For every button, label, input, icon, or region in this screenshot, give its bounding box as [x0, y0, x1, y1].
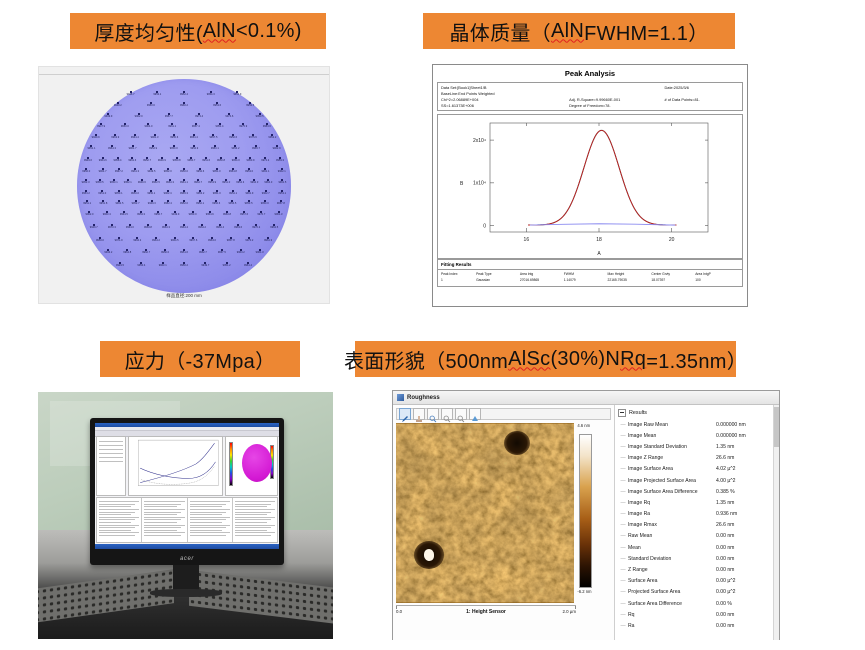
- wafer-point-value: 9961.1: [168, 126, 176, 129]
- screen-table-row: [235, 512, 271, 513]
- svg-text:2x10⁴: 2x10⁴: [473, 138, 486, 144]
- screen-table-row: [99, 532, 139, 533]
- svg-text:B: B: [460, 181, 464, 187]
- wafer-point-value: 9952.9: [149, 148, 157, 151]
- svg-text:0: 0: [483, 224, 486, 230]
- screen-table-row: [235, 514, 267, 515]
- screen-table-row: [190, 530, 222, 531]
- screen-panel-row: [99, 441, 123, 442]
- monitor-stand-neck: [173, 565, 199, 591]
- wafer-point-value: 9964.7: [99, 171, 107, 174]
- screen-table-row: [235, 522, 267, 523]
- wafer-point-value: 9954.6: [206, 214, 214, 217]
- wafer-point-value: 9952.0: [180, 203, 188, 206]
- wafer-point-value: 9964.8: [123, 252, 131, 255]
- wafer-point-value: 9953.9: [247, 160, 255, 163]
- afm-scale-gradient: [579, 434, 592, 588]
- wafer-point-value: 9950.0: [161, 252, 169, 255]
- pencil-icon[interactable]: [399, 408, 411, 420]
- wafer-point-value: 9961.3: [264, 240, 272, 243]
- screen-table-row: [99, 527, 135, 528]
- fit-column-header: FWHM: [564, 272, 608, 276]
- results-row[interactable]: —Image Surface Area Difference0.385 %: [618, 486, 776, 497]
- wafer-point-value: 9962.7: [262, 193, 270, 196]
- result-name: Rq: [628, 612, 716, 618]
- wafer-point-value: 9950.0: [189, 214, 197, 217]
- wafer-point-value: 9949.6: [138, 182, 146, 185]
- result-name: Image Standard Deviation: [628, 444, 716, 450]
- wafer-point-value: 9952.4: [180, 94, 188, 97]
- results-tree-root[interactable]: Results: [618, 409, 776, 417]
- wafer-point-value: 9949.6: [84, 160, 92, 163]
- wafer-point-value: 9964.3: [250, 182, 258, 185]
- afm-window-titlebar[interactable]: Roughness: [393, 391, 779, 405]
- svg-text:A: A: [597, 251, 601, 257]
- wafer-point-value: 9965.7: [252, 148, 260, 151]
- wafer-point-value: 9962.4: [164, 193, 172, 196]
- wafer-point-value: 9962.5: [115, 203, 123, 206]
- fitting-results-column-headers: Peak IndexPeak TypeArea IntgFWHMMax Heig…: [441, 272, 739, 276]
- wafer-point-value: 9949.7: [90, 227, 98, 230]
- afm-x-min-label: 0.0: [396, 609, 402, 614]
- screen-table-row: [144, 525, 184, 526]
- collapse-toggle-icon[interactable]: [618, 409, 626, 417]
- screen-table-row: [99, 504, 135, 505]
- result-value: 0.00 nm: [716, 623, 776, 629]
- screen-table-row: [235, 532, 275, 533]
- wafer-point-value: 9964.4: [180, 227, 188, 230]
- fit-value-cell: 100: [695, 278, 739, 282]
- wafer-point-value: 9951.1: [83, 203, 91, 206]
- afm-x-axis: 0.0 1: Height Sensor 2.0 µm: [396, 605, 576, 622]
- fitting-results-header: Fitting Results: [437, 259, 743, 269]
- wafer-point-value: 9961.6: [128, 160, 136, 163]
- result-value: 0.00 nm: [716, 612, 776, 618]
- wafer-point-value: 9949.9: [104, 116, 112, 119]
- wafer-point-value: 9951.1: [87, 148, 95, 151]
- results-row[interactable]: —Surface Area Difference0.00 %: [618, 598, 776, 609]
- wafer-point-value: 9953.1: [153, 94, 161, 97]
- wafer-point-value: 9972.2: [261, 160, 269, 163]
- fit-value-cell: Gaussian: [476, 278, 520, 282]
- screen-data-tables: [96, 497, 278, 543]
- results-row[interactable]: —Image Z Range26.6 nm: [618, 453, 776, 464]
- wafer-point-value: 9950.7: [154, 214, 162, 217]
- wafer-point-value: 9950.0: [180, 171, 188, 174]
- screen-left-panel: [96, 436, 126, 496]
- svg-text:20: 20: [669, 237, 675, 243]
- screen-table-2: [142, 498, 187, 542]
- fit-column-header: Max Height: [608, 272, 652, 276]
- wafer-point-value: 9949.5: [116, 265, 124, 268]
- wafer-point-value: 9961.5: [278, 182, 286, 185]
- wafer-point-value: 9961.3: [256, 252, 264, 255]
- tree-branch-icon: —: [618, 500, 628, 506]
- wafer-point-value: 9953.3: [137, 214, 145, 217]
- afm-scale-max-label: 4.6 nm: [577, 423, 590, 428]
- result-name: Image Rq: [628, 500, 716, 506]
- afm-height-scale: 4.6 nm -6.2 nm: [577, 423, 611, 603]
- wafer-point-value: 9964.5: [120, 214, 128, 217]
- screen-table-row: [144, 509, 184, 510]
- wafer-point-value: 9946.7: [127, 94, 135, 97]
- export-icon[interactable]: [469, 408, 481, 420]
- monitor-stand-base: [150, 589, 222, 597]
- result-value: 0.00 %: [716, 601, 776, 607]
- meta-degree-of-freedom: Degree of Freedom=78.: [569, 103, 664, 109]
- result-name: Image Mean: [628, 433, 716, 439]
- wafer-point-value: 9951.0: [213, 171, 221, 174]
- wafer-point-value: 9953.5: [246, 105, 254, 108]
- wafer-point-value: 9961.4: [244, 265, 252, 268]
- results-row[interactable]: —Ra0.00 nm: [618, 620, 776, 631]
- wafer-point-value: 9950.6: [147, 105, 155, 108]
- fit-column-header: Center Grvty: [651, 272, 695, 276]
- result-name: Z Range: [628, 567, 716, 573]
- wafer-point-value: 9964.3: [108, 148, 116, 151]
- afm-grain-texture: [396, 423, 574, 603]
- wafer-point-value: 9950.1: [147, 193, 155, 196]
- zoom-out-icon[interactable]: [441, 408, 453, 420]
- wafer-point-value: 9967.6: [189, 240, 197, 243]
- result-value: 0.00 µ^2: [716, 589, 776, 595]
- wafer-point-value: 9957.6: [240, 214, 248, 217]
- title-stress-text: 应力（-37Mpa）: [125, 345, 276, 374]
- results-scrollbar-thumb[interactable]: [774, 407, 779, 447]
- results-row[interactable]: —Image Raw Mean0.000000 nm: [618, 419, 776, 430]
- screen-table-row: [190, 525, 230, 526]
- screen-table-row: [144, 514, 176, 515]
- result-value: 0.385 %: [716, 489, 776, 495]
- screen-panel-row: [99, 457, 123, 458]
- screen-table-row: [190, 519, 226, 520]
- title-surface-spellcheck-term-1: AlSc: [508, 348, 550, 371]
- wafer-point-value: 9949.5: [147, 171, 155, 174]
- wafer-point-value: 9951.0: [98, 193, 106, 196]
- wafer-point-value: 9952.1: [124, 182, 132, 185]
- screen-panel-row: [99, 449, 123, 450]
- result-value: 4.00 µ^2: [716, 478, 776, 484]
- wafer-point-value: 9954.5: [228, 203, 236, 206]
- result-value: 0.00 µ^2: [716, 578, 776, 584]
- wafer-point-value: 9962.0: [135, 116, 143, 119]
- afm-height-image[interactable]: [396, 423, 574, 603]
- wafer-point-value: 9950.6: [212, 203, 220, 206]
- results-row[interactable]: —Z Range0.00 nm: [618, 564, 776, 575]
- screen-table-row: [99, 514, 131, 515]
- results-row[interactable]: —Image Surface Area4.02 µ^2: [618, 464, 776, 475]
- wafer-point-value: 9950.1: [211, 148, 219, 151]
- tree-branch-icon: —: [618, 545, 628, 551]
- wafer-point-value: 9952.4: [164, 203, 172, 206]
- fitting-results-table: Peak IndexPeak TypeArea IntgFWHMMax Heig…: [437, 269, 743, 287]
- tree-branch-icon: —: [618, 422, 628, 428]
- wafer-point-value: 9964.5: [171, 240, 179, 243]
- results-row[interactable]: —Raw Mean0.00 nm: [618, 531, 776, 542]
- wafer-point-value: 9963.4: [103, 214, 111, 217]
- title-surface-spellcheck-term-2: Rq: [620, 348, 646, 371]
- results-row[interactable]: —Image Rmax26.6 nm: [618, 520, 776, 531]
- afm-pit-1: [504, 431, 530, 455]
- result-value: 0.00 nm: [716, 533, 776, 539]
- wafer-point-value: 9964.3: [264, 182, 272, 185]
- monitor-screen: [95, 423, 279, 549]
- screen-table-row: [99, 501, 139, 502]
- result-value: 0.00 nm: [716, 556, 776, 562]
- tree-branch-icon: —: [618, 612, 628, 618]
- wafer-point-value: 9964.2: [133, 240, 141, 243]
- title-thickness-uniformity: 厚度均匀性(AlN<0.1%): [70, 13, 326, 49]
- result-name: Image Z Range: [628, 455, 716, 461]
- tree-branch-icon: —: [618, 533, 628, 539]
- peak-analysis-plot: 161820A01x10⁴2x10⁴B: [437, 114, 743, 259]
- wafer-point-value: 9949.9: [92, 137, 100, 140]
- wafer-point-value: 9958.4: [114, 160, 122, 163]
- results-row[interactable]: —Rq0.00 nm: [618, 609, 776, 620]
- result-name: Surface Area Difference: [628, 601, 716, 607]
- screen-table-row: [144, 530, 176, 531]
- screen-table-row: [190, 522, 222, 523]
- tree-branch-icon: —: [618, 489, 628, 495]
- wafer-point-value: 9953.5: [96, 182, 104, 185]
- screen-table-row: [235, 509, 275, 510]
- results-scrollbar[interactable]: [773, 405, 779, 640]
- result-value: 1.35 nm: [716, 500, 776, 506]
- wafer-point-value: 9959.3: [276, 160, 284, 163]
- screen-table-row: [99, 530, 131, 531]
- wafer-point-value: 9957.7: [165, 116, 173, 119]
- zoom-in-icon[interactable]: [427, 408, 439, 420]
- tree-branch-icon: —: [618, 623, 628, 629]
- wafer-point-value: 9974.6: [225, 116, 233, 119]
- title-stress: 应力（-37Mpa）: [100, 341, 300, 377]
- tree-branch-icon: —: [618, 511, 628, 517]
- wafer-point-value: 9952.7: [132, 203, 140, 206]
- tree-branch-icon: —: [618, 444, 628, 450]
- wafer-point-value: 9953.1: [278, 193, 286, 196]
- screen-table-row: [144, 532, 184, 533]
- screen-workspace: [95, 435, 279, 544]
- screen-table-row: [190, 504, 226, 505]
- screen-table-row: [144, 506, 176, 507]
- screen-table-row: [99, 506, 131, 507]
- figure-top-rule: [39, 74, 329, 75]
- fit-value-cell: 27016.69865: [520, 278, 564, 282]
- afm-window-body: 4.6 nm -6.2 nm 0.0 1: Height Sensor 2.0 …: [393, 405, 779, 640]
- wafer-stress-map-disc: [242, 444, 272, 482]
- wafer-point-value: 9952.7: [143, 160, 151, 163]
- screen-table-row: [235, 527, 271, 528]
- wafer-point-value: 9964.3: [166, 182, 174, 185]
- result-value: 0.00 nm: [716, 567, 776, 573]
- wafer-point-value: 9947.9: [97, 126, 105, 129]
- wafer-point-value: 9970.7: [257, 214, 265, 217]
- roughness-app-icon: [397, 394, 404, 401]
- wafer-point-value: 9951.6: [180, 252, 188, 255]
- screen-table-row: [190, 509, 230, 510]
- wafer-point-value: 9951.6: [202, 160, 210, 163]
- wafer-point-value: 9953.2: [196, 193, 204, 196]
- wafer-point-value: 9957.5: [209, 137, 217, 140]
- wafer-point-value: 9955.6: [170, 137, 178, 140]
- tree-branch-icon: —: [618, 589, 628, 595]
- color-scale-left: [229, 442, 233, 486]
- wafer-point-value: 9949.9: [171, 214, 179, 217]
- title-surface-morphology: 表面形貌（500nm AlSc(30%)N Rq=1.35nm）: [355, 341, 736, 377]
- wafer-point-value: 9950.0: [82, 171, 90, 174]
- results-label: Results: [629, 410, 647, 416]
- wafer-point-value: 9962.5: [270, 227, 278, 230]
- screen-table-row: [99, 509, 139, 510]
- result-value: 1.35 nm: [716, 444, 776, 450]
- wafer-point-value: 9967.2: [115, 171, 123, 174]
- wafer-point-value: 9953.6: [263, 126, 271, 129]
- screen-table-row: [144, 501, 184, 502]
- peak-analysis-metadata: Data Set:[Book1]Sheet1!B Date:2025/3/6 B…: [437, 82, 743, 111]
- fit-value-cell: 1: [441, 278, 476, 282]
- wafer-point-value: 9961.7: [129, 148, 137, 151]
- wafer-point-value: 9952.0: [164, 171, 172, 174]
- screen-table-row: [235, 504, 271, 505]
- results-row[interactable]: —Image Rq1.35 nm: [618, 497, 776, 508]
- peak-analysis-title: Peak Analysis: [433, 69, 747, 78]
- wafer-point-value: 9957.4: [192, 126, 200, 129]
- result-value: 0.000000 nm: [716, 433, 776, 439]
- wafer-point-value: 9954.0: [232, 160, 240, 163]
- afm-roughness-window: Roughness: [392, 390, 780, 640]
- wafer-point-value: 9951.0: [213, 193, 221, 196]
- title-crystal-spellcheck-term: AlN: [551, 20, 584, 43]
- wafer-point-value: 9953.9: [233, 94, 241, 97]
- result-value: 26.6 nm: [716, 455, 776, 461]
- stress-measurement-photo: acer: [38, 392, 333, 639]
- result-name: Mean: [628, 545, 716, 551]
- svg-text:18: 18: [596, 237, 602, 243]
- screen-table-row: [235, 519, 271, 520]
- screen-table-row: [190, 512, 226, 513]
- screen-table-row: [144, 504, 180, 505]
- results-row[interactable]: —Projected Surface Area0.00 µ^2: [618, 587, 776, 598]
- wafer-point-value: 9963.0: [208, 240, 216, 243]
- result-name: Ra: [628, 623, 716, 629]
- result-value: 4.02 µ^2: [716, 466, 776, 472]
- result-value: 26.6 nm: [716, 522, 776, 528]
- wafer-point-value: 9951.0: [222, 182, 230, 185]
- result-name: Image Rmax: [628, 522, 716, 528]
- wafer-point-value: 9952.1: [196, 203, 204, 206]
- results-row[interactable]: —Standard Deviation0.00 nm: [618, 553, 776, 564]
- screen-table-row: [190, 532, 230, 533]
- wafer-point-value: 9965.3: [180, 193, 188, 196]
- afm-toolbar[interactable]: [396, 408, 611, 420]
- results-row[interactable]: —Surface Area0.00 µ^2: [618, 576, 776, 587]
- result-value: 0.000000 nm: [716, 422, 776, 428]
- wafer-point-value: 9964.4: [216, 227, 224, 230]
- wafer-point-value: 9950.2: [180, 265, 188, 268]
- screen-table-row: [235, 530, 267, 531]
- wafer-point-value: 9962.7: [142, 252, 150, 255]
- wafer-point-value: 9963.2: [237, 252, 245, 255]
- stamp-icon[interactable]: [413, 408, 425, 420]
- results-list: —Image Raw Mean0.000000 nm—Image Mean0.0…: [618, 419, 776, 632]
- fit-value-cell: 22165.79035: [608, 278, 652, 282]
- wafer-point-value: 9963.6: [234, 227, 242, 230]
- peak-analysis-report: Peak Analysis Data Set:[Book1]Sheet1!B D…: [432, 64, 748, 307]
- wafer-point-value: 9954.4: [190, 137, 198, 140]
- screen-table-row: [190, 527, 226, 528]
- screen-table-row: [144, 512, 180, 513]
- wafer-point-value: 9950.6: [229, 137, 237, 140]
- wafer-point-value: 9953.5: [245, 203, 253, 206]
- results-row[interactable]: —Image Standard Deviation1.35 nm: [618, 441, 776, 452]
- wafer-disc: 9946.79953.19952.49954.39953.99949.29950…: [77, 79, 291, 293]
- screen-table-row: [235, 501, 275, 502]
- results-row[interactable]: —Image Mean0.000000 nm: [618, 430, 776, 441]
- results-row[interactable]: —Image Ra0.936 nm: [618, 509, 776, 520]
- wafer-point-value: 9960.2: [180, 105, 188, 108]
- wafer-point-value: 9961.3: [275, 214, 283, 217]
- wafer-point-value: 9950.1: [115, 193, 123, 196]
- results-row[interactable]: —Mean0.00 nm: [618, 542, 776, 553]
- wafer-point-value: 9953.5: [256, 116, 264, 119]
- wafer-point-value: 9962.0: [86, 214, 94, 217]
- screen-panel-row: [99, 445, 123, 446]
- wafer-point-value: 9961.9: [245, 193, 253, 196]
- wafer-point-value: 9953.1: [110, 182, 118, 185]
- screen-table-row: [144, 535, 180, 536]
- wafer-point-value: 9961.3: [151, 137, 159, 140]
- fit-column-header: Area IntgP: [695, 272, 739, 276]
- screen-table-row: [190, 514, 222, 515]
- afm-results-pane[interactable]: Results —Image Raw Mean0.000000 nm—Image…: [615, 405, 779, 640]
- screen-table-3: [188, 498, 233, 542]
- result-name: Image Ra: [628, 511, 716, 517]
- wafer-point-value: 9953.9: [208, 182, 216, 185]
- screen-table-row: [190, 535, 226, 536]
- wafer-point-value: 9957.8: [277, 203, 285, 206]
- result-name: Image Surface Area Difference: [628, 489, 716, 495]
- wafer-point-value: 9953.0: [96, 240, 104, 243]
- tree-branch-icon: —: [618, 556, 628, 562]
- result-value: 0.936 nm: [716, 511, 776, 517]
- wafer-point-value: 9954.3: [207, 94, 215, 97]
- screen-panel-row: [99, 453, 123, 454]
- wafer-point-value: 9951.4: [216, 126, 224, 129]
- wafer-point-value: 9964.3: [162, 227, 170, 230]
- monitor-brand-label: acer: [90, 556, 284, 562]
- wafer-point-value: 9961.1: [180, 182, 188, 185]
- results-row[interactable]: —Image Projected Surface Area4.00 µ^2: [618, 475, 776, 486]
- afm-image-row: 4.6 nm -6.2 nm: [396, 423, 611, 603]
- wafer-point-value: 9949.7: [201, 265, 209, 268]
- zoom-region-icon[interactable]: [455, 408, 467, 420]
- wafer-caption: 样品直径:200 mm: [39, 293, 329, 299]
- screen-table-row: [99, 519, 135, 520]
- wafer-point-value: 9962.1: [278, 171, 286, 174]
- title-thickness-spellcheck-term: AlN: [203, 20, 236, 43]
- screen-taskbar: [95, 544, 279, 549]
- peak-plot-svg: 161820A01x10⁴2x10⁴B: [438, 115, 744, 258]
- afm-x-max-label: 2.0 µm: [562, 609, 576, 614]
- tree-branch-icon: —: [618, 567, 628, 573]
- wafer-point-value: 9962.7: [199, 252, 207, 255]
- screen-table-row: [144, 519, 180, 520]
- tree-branch-icon: —: [618, 601, 628, 607]
- wafer-point-value: 9950.8: [217, 160, 225, 163]
- screen-table-1: [97, 498, 142, 542]
- screen-table-row: [144, 522, 176, 523]
- wafer-point-value: 9951.2: [223, 265, 231, 268]
